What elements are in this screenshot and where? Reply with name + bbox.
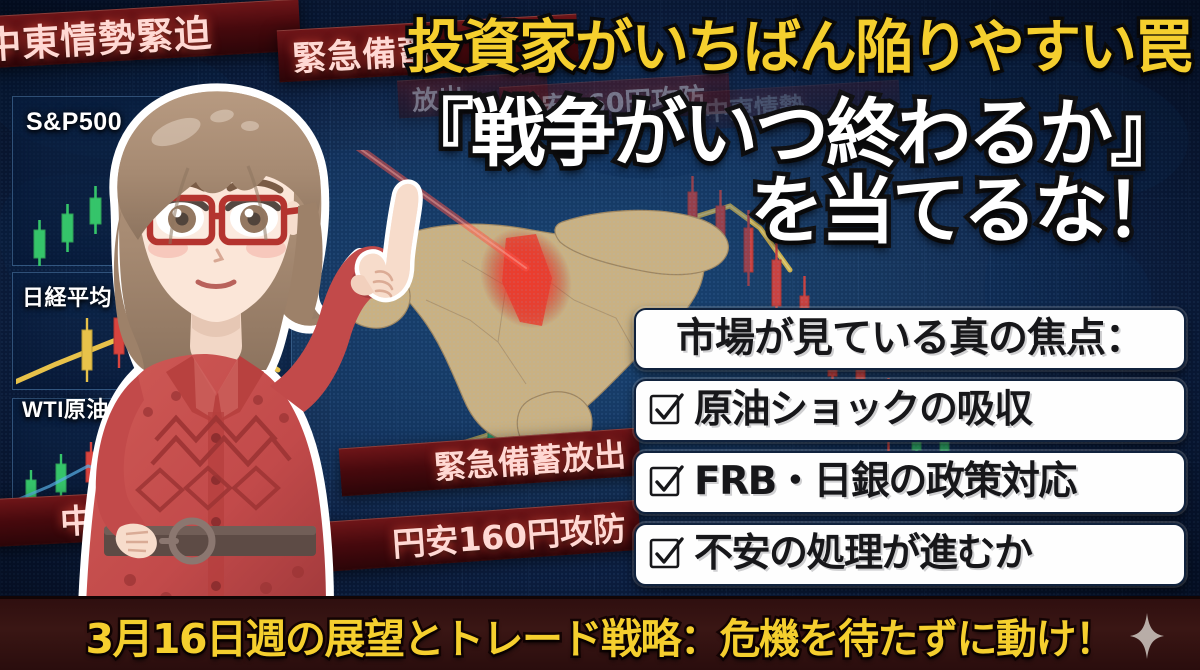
main-title-line1: 『戦争がいつ終わるか』 (400, 96, 1176, 173)
checklist-header-text: 市場が見ている真の焦点： (676, 318, 1144, 358)
checklist-item-label: 原油ショックの吸収 (694, 390, 1032, 429)
headline-text: 投資家がいちばん陥りやすい罠 (404, 18, 1194, 76)
checklist-item-2[interactable]: FRB・日銀の政策対応 (634, 451, 1186, 514)
thumbnail-canvas: S&P500 日経平均 WTI原油 中東情勢緊迫 緊急備蓄 放出 円安160円攻… (0, 0, 1200, 670)
checklist-item-label: 不安の処理が進むか (694, 534, 1032, 573)
main-title: 『戦争がいつ終わるか』 を当てるな！ (400, 96, 1200, 250)
checklist-item-1[interactable]: 原油ショックの吸収 (634, 379, 1186, 442)
character-analyst (26, 40, 426, 620)
bottom-banner: 3月16日週の展望とトレード戦略：危機を待たずに動け！ (0, 596, 1200, 670)
checklist-panel: 市場が見ている真の焦点： 原油ショックの吸収 FRB・日銀の政策対応 不安の処理… (634, 308, 1186, 595)
checkbox-checked-icon[interactable] (648, 536, 684, 572)
main-title-line2: を当てるな！ (400, 173, 1176, 250)
checklist-item-3[interactable]: 不安の処理が進むか (634, 523, 1186, 586)
checklist-header: 市場が見ている真の焦点： (634, 308, 1186, 370)
checkbox-checked-icon[interactable] (648, 464, 684, 500)
sparkle-icon (1130, 613, 1164, 659)
checklist-item-label: FRB・日銀の政策対応 (694, 462, 1076, 501)
bottom-banner-text: 3月16日週の展望とトレード戦略：危機を待たずに動け！ (85, 605, 1114, 665)
checkbox-checked-icon[interactable] (648, 392, 684, 428)
